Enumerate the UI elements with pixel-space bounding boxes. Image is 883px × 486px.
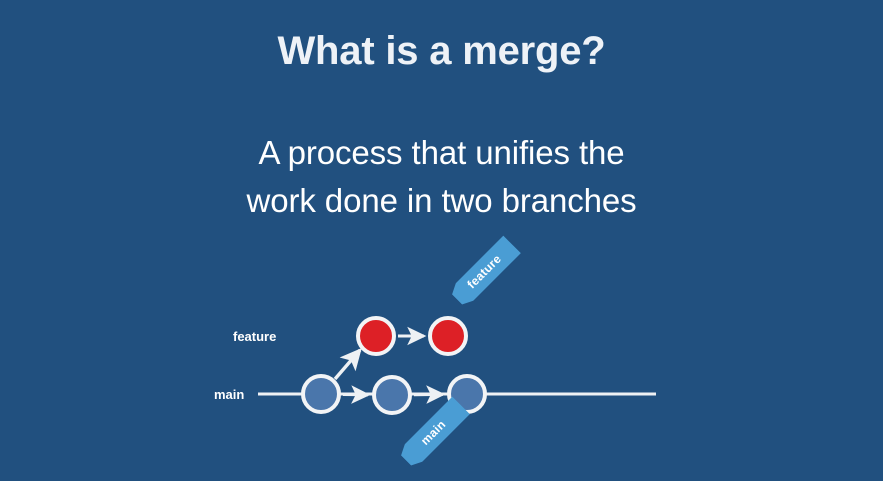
- edge-m1-f1: [335, 350, 360, 379]
- slide-canvas: What is a merge? A process that unifies …: [0, 0, 883, 481]
- commit-node-feature-1[interactable]: [358, 318, 394, 354]
- branch-label-main: main: [214, 387, 244, 402]
- commit-node-main-1[interactable]: [303, 376, 339, 412]
- commit-node-feature-2[interactable]: [430, 318, 466, 354]
- branch-label-feature: feature: [233, 329, 276, 344]
- git-branch-diagram: feature main feature main: [0, 0, 883, 481]
- commit-node-main-2[interactable]: [374, 377, 410, 413]
